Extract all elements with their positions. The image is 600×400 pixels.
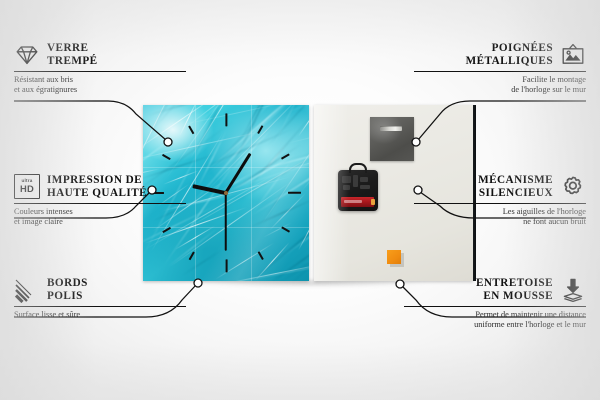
callout-impression-haute-qualite: ultra HD IMPRESSION DE HAUTE QUALITÉ Cou… [14, 174, 186, 227]
connector-node-verre-trempe [164, 138, 172, 146]
callout-subtitle: Facilite le montage de l'horloge sur le … [414, 75, 586, 95]
callout-mecanisme-silencieux: MÉCANISME SILENCIEUX Les aiguilles de l'… [414, 174, 586, 227]
connector-verre-trempe [14, 101, 166, 140]
callout-subtitle: Surface lisse et sûre [14, 310, 186, 320]
callout-subtitle: Les aiguilles de l'horloge ne font aucun… [414, 207, 586, 227]
callout-bords-polis: BORDS POLIS Surface lisse et sûre [14, 277, 186, 320]
connector-node-entretoise [396, 280, 404, 288]
connector-poignees [418, 101, 586, 140]
callout-rule [414, 203, 586, 204]
callout-title: VERRE TREMPÉ [47, 42, 98, 67]
callout-title: MÉCANISME SILENCIEUX [478, 174, 553, 199]
foam-spacer-arrow-icon [560, 277, 586, 303]
callout-entretoise-en-mousse: ENTRETOISE EN MOUSSE Permet de maintenir… [404, 277, 586, 330]
callout-title: POIGNÉES MÉTALLIQUES [466, 42, 553, 67]
callout-subtitle: Résistant aux bris et aux égratignures [14, 75, 186, 95]
diamond-icon [14, 42, 40, 68]
callout-subtitle: Couleurs intenses et image claire [14, 207, 186, 227]
callout-rule [14, 203, 186, 204]
connector-node-poignees [412, 138, 420, 146]
polished-edges-icon [14, 277, 40, 303]
callout-poignees-metalliques: POIGNÉES MÉTALLIQUES Facilite le montage… [414, 42, 586, 95]
callout-rule [14, 306, 186, 307]
callout-rule [414, 71, 586, 72]
callout-verre-trempe: VERRE TREMPÉ Résistant aux bris et aux é… [14, 42, 186, 95]
callout-title: BORDS POLIS [47, 277, 88, 302]
connector-node-bords-polis [194, 279, 202, 287]
wall-mount-frame-icon [560, 42, 586, 68]
callout-subtitle: Permet de maintenir une distance uniform… [404, 310, 586, 330]
callout-rule [404, 306, 586, 307]
callout-title: ENTRETOISE EN MOUSSE [476, 277, 553, 302]
gear-icon [560, 174, 586, 200]
ultra-hd-icon-main: HD [20, 184, 34, 193]
ultra-hd-icon: ultra HD [14, 174, 40, 200]
callout-title: IMPRESSION DE HAUTE QUALITÉ [47, 174, 147, 199]
callout-rule [14, 71, 186, 72]
infographic-canvas: VERRE TREMPÉ Résistant aux bris et aux é… [0, 0, 600, 400]
